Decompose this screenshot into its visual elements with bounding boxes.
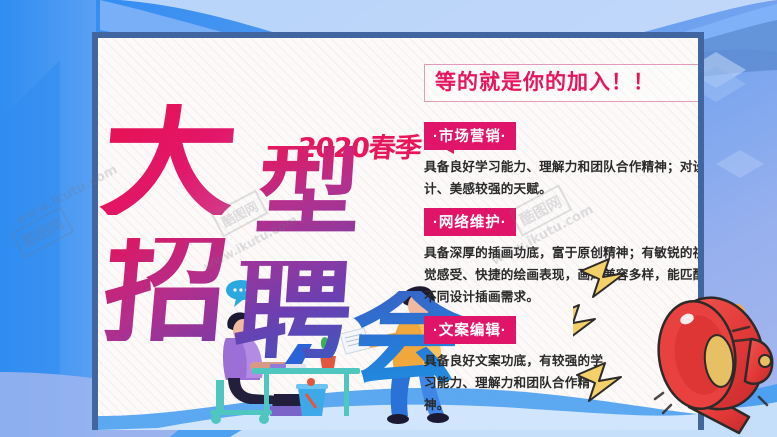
- section-title-network: ·网络维护·: [424, 208, 516, 236]
- lightning-bolt-icon: [573, 259, 625, 401]
- poster-headline: 2020春季 大 型 招 聘 会: [106, 86, 436, 416]
- section-title-marketing: ·市场营销·: [424, 122, 516, 150]
- slogan-text: 等的就是你的加入！！: [435, 71, 701, 94]
- megaphone-icon: [573, 257, 777, 437]
- megaphone-svg: [573, 257, 777, 437]
- recruitment-poster: 2020春季 大 型 招 聘 会 等的就是你的加入！！ ·市场营销· 具备良好学…: [0, 0, 777, 437]
- job-section-marketing: ·市场营销· 具备良好学习能力、理解力和团队合作精神；对设计、美感较强的天赋。: [424, 116, 704, 200]
- title-char-1: 大: [97, 104, 242, 215]
- title-char-3: 招: [100, 238, 234, 341]
- title-char-2: 型: [253, 146, 364, 232]
- section-body-marketing: 具备良好学习能力、理解力和团队合作精神；对设计、美感较强的天赋。: [424, 157, 704, 200]
- title-char-4: 聘: [231, 261, 356, 358]
- slogan-box: 等的就是你的加入！！: [424, 64, 704, 102]
- megaphone-body: [652, 296, 772, 433]
- section-title-copywriting: ·文案编辑·: [424, 316, 516, 344]
